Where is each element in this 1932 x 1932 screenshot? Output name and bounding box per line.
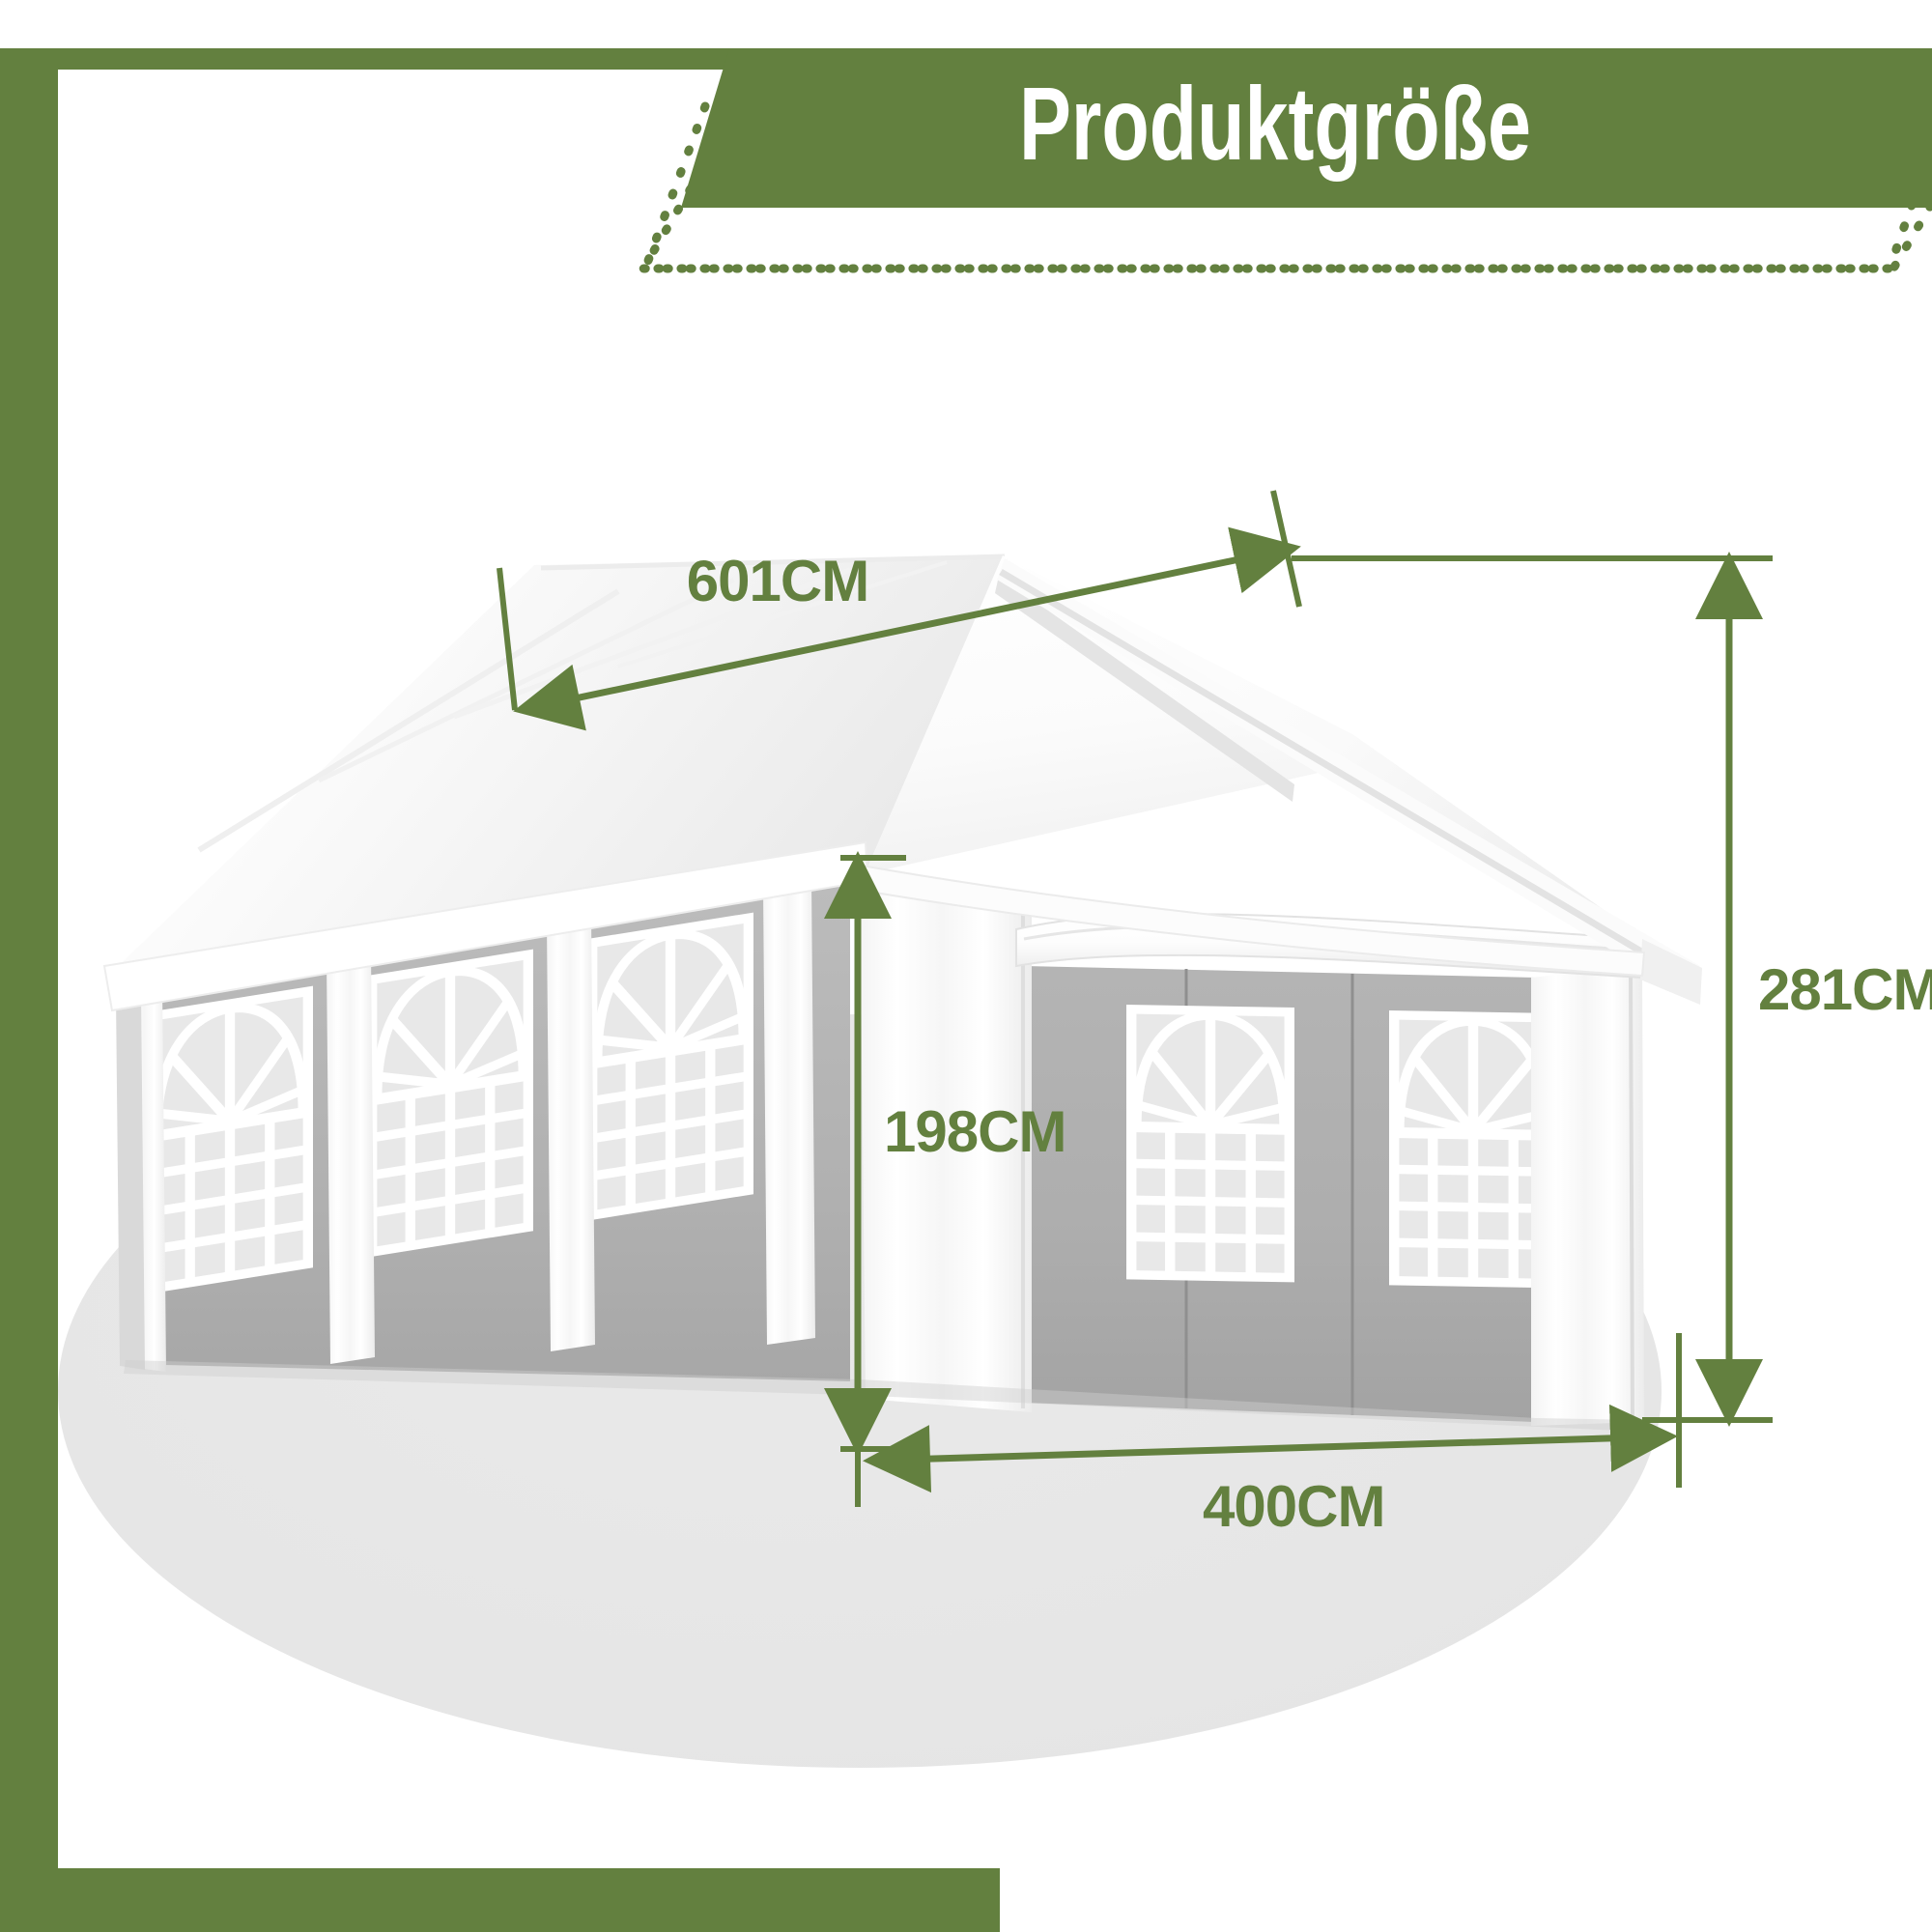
- dimension-side-height-198: 198CM: [840, 858, 1065, 1449]
- dimension-layer: 601CM 198CM 281CM 400CM: [0, 0, 1932, 1932]
- dimension-ridge-height-281: 281CM: [1292, 558, 1932, 1420]
- dimension-label-side-height: 198CM: [884, 1099, 1065, 1164]
- dimension-label-width: 400CM: [1203, 1474, 1384, 1539]
- infographic-canvas: Produktgröße: [0, 0, 1932, 1932]
- dimension-label-ridge-height: 281CM: [1758, 957, 1932, 1022]
- dim-601-arrow-line: [520, 548, 1294, 710]
- dimension-width-400: 400CM: [858, 1333, 1679, 1539]
- dimension-label-length: 601CM: [687, 549, 868, 613]
- dim-400-arrow-line: [869, 1436, 1671, 1461]
- dimension-length-601: 601CM: [499, 491, 1299, 710]
- dim-601-extension-left: [499, 568, 515, 710]
